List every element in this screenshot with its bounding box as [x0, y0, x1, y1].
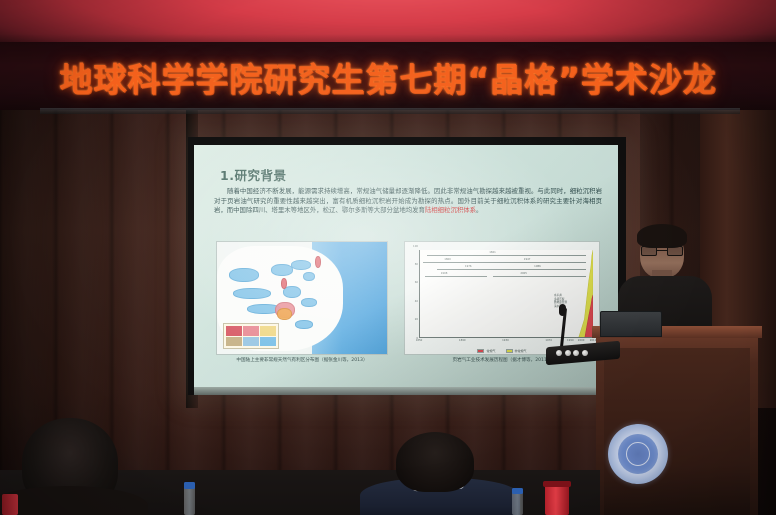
chart-y-tick: 80	[415, 263, 418, 266]
gas-chart-canvas: 020406080100	[404, 241, 600, 355]
chart-legend-item: 常规气	[477, 349, 495, 353]
university-emblem-icon	[608, 424, 668, 484]
chart-x-tick: 1890	[459, 339, 466, 342]
chart-y-axis-ticks: 020406080100	[408, 246, 418, 338]
chart-legend-label: 常规气	[486, 349, 495, 353]
legend-swatch	[243, 326, 259, 336]
legend-swatch	[226, 326, 242, 336]
chart-timeline-rules: 1821 1860 1947 1976 1986 1998 2005	[420, 250, 593, 284]
chart-y-tick: 20	[415, 318, 418, 321]
figure-china-map: 中国陆上主要非常规天然气有利区分布图（据张金川等，2013）	[216, 241, 388, 364]
screen-bottom-edge	[194, 387, 618, 395]
presenter-laptop	[600, 311, 662, 337]
red-thermos-lid	[543, 481, 571, 487]
legend-swatch	[226, 337, 242, 347]
china-map-canvas	[216, 241, 388, 355]
map-legend	[223, 323, 279, 349]
map-basin	[233, 288, 271, 299]
slide-body-text: 随着中国经济不断发展，能源需求持续增高，常规油气储量却逐渐降低。因此非常规油气勘…	[214, 187, 602, 216]
chart-x-tick: 1970	[545, 339, 552, 342]
chart-y-tick: 60	[415, 281, 418, 284]
map-basin	[301, 298, 317, 307]
red-thermos	[545, 484, 569, 515]
chart-legend-item: 非常规气	[506, 349, 527, 353]
water-bottle	[512, 492, 523, 515]
red-object-corner	[2, 494, 18, 515]
map-basin	[303, 272, 315, 281]
lecture-hall-photo: 地球科学学院研究生第七期“晶格”学术沙龙 1.研究背景 随着中国经济不断发展，能…	[0, 0, 776, 515]
legend-swatch	[260, 337, 276, 347]
console-buttons	[556, 350, 596, 356]
figure-caption: 中国陆上主要非常规天然气有利区分布图（据张金川等，2013）	[216, 358, 388, 364]
slide-body-highlight: 陆相细粒沉积体系	[425, 206, 476, 214]
water-bottle	[184, 486, 195, 515]
map-basin	[271, 264, 293, 276]
map-basin-highlight	[281, 278, 287, 289]
chart-x-tick: 2000	[578, 339, 585, 342]
map-basin	[229, 268, 259, 282]
map-basin-highlight	[277, 308, 292, 320]
legend-swatch	[260, 326, 276, 336]
water-bottle-cap	[512, 488, 523, 494]
console-button[interactable]	[582, 350, 588, 356]
event-banner-title: 地球科学学院研究生第七期“晶格”学术沙龙	[0, 52, 776, 102]
map-basin-highlight	[315, 256, 321, 268]
audience-member-right	[396, 432, 474, 492]
slide-title: 1.研究背景	[220, 165, 286, 184]
console-button[interactable]	[573, 350, 579, 356]
chart-x-axis-ticks: 1850189019301970199020002011	[419, 339, 593, 345]
banner-ledge	[40, 108, 740, 114]
console-button[interactable]	[565, 350, 571, 356]
chart-x-tick: 1850	[416, 339, 423, 342]
slide-body-part-1: 随着中国经济不断发展，能源需求持续增高，常规油气储量却逐渐降低。因此非常规油气勘…	[214, 187, 602, 214]
water-bottle-cap	[184, 482, 195, 489]
chart-legend-label: 非常规气	[515, 349, 527, 353]
legend-swatch	[243, 337, 259, 347]
chart-y-tick: 100	[413, 245, 418, 248]
slide-body-part-2: 。	[476, 206, 482, 214]
presenter-glasses	[641, 246, 683, 256]
chart-plot-area: 1821 1860 1947 1976 1986 1998 2005 水平井 多…	[419, 250, 593, 338]
map-basin	[295, 320, 313, 329]
map-basin	[291, 260, 311, 270]
chart-x-tick: 1990	[567, 339, 574, 342]
microphone-head-icon	[559, 304, 566, 316]
console-button[interactable]	[556, 350, 562, 356]
presenter-hair	[637, 224, 687, 248]
chart-x-tick: 1930	[502, 339, 509, 342]
chart-y-tick: 40	[415, 300, 418, 303]
